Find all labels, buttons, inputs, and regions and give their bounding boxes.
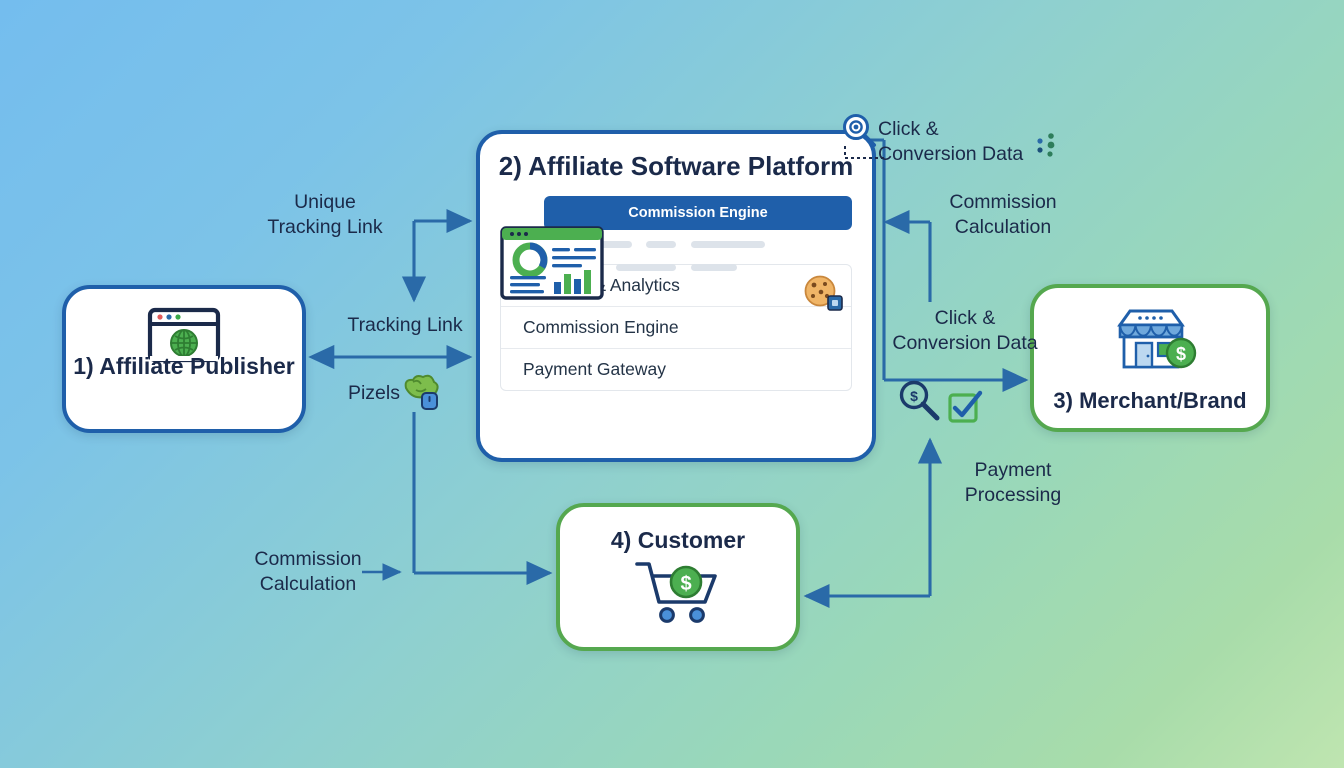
- label-commission-calculation-right: Commission Calculation: [928, 190, 1078, 239]
- label-click-conversion-data-mid: Click & Conversion Data: [886, 306, 1044, 355]
- node-title-customer: 4) Customer: [611, 527, 745, 554]
- svg-text:$: $: [680, 573, 691, 595]
- platform-row-payment-gateway[interactable]: Payment Gateway: [501, 348, 851, 390]
- scatter-dots-icon: [1032, 131, 1060, 159]
- node-title-platform: 2) Affiliate Software Platform: [499, 152, 853, 182]
- node-customer[interactable]: 4) Customer $: [556, 503, 800, 651]
- label-payment-processing: Payment Processing: [938, 458, 1088, 507]
- label-click-conversion-data-top: Click & Conversion Data: [878, 117, 1048, 166]
- diagram-canvas: 1) Affiliate Publisher 2) Affiliate Soft…: [0, 0, 1344, 768]
- checkbox-check-icon: [947, 389, 983, 425]
- node-title-publisher: 1) Affiliate Publisher: [73, 353, 295, 380]
- node-title-merchant: 3) Merchant/Brand: [1053, 388, 1246, 414]
- dashboard-icon: [500, 226, 604, 300]
- platform-row-commission-engine[interactable]: Commission Engine: [501, 306, 851, 348]
- shopping-cart-dollar-icon: $: [631, 558, 725, 629]
- label-commission-calculation-left: Commission Calculation: [228, 547, 388, 596]
- commission-engine-banner: Commission Engine: [544, 196, 852, 230]
- svg-text:$: $: [910, 388, 918, 404]
- search-dollar-icon: $: [896, 378, 942, 424]
- storefront-dollar-icon: $: [1098, 307, 1202, 378]
- label-tracking-link: Tracking Link: [330, 313, 480, 338]
- svg-text:$: $: [1176, 344, 1186, 364]
- node-affiliate-publisher[interactable]: 1) Affiliate Publisher: [62, 285, 306, 433]
- label-pizels: Pizels: [320, 381, 400, 406]
- label-unique-tracking-link: Unique Tracking Link: [236, 190, 414, 239]
- cookie-icon: [802, 274, 846, 314]
- pixel-tag-icon: [400, 374, 442, 412]
- node-merchant-brand[interactable]: $ 3) Merchant/Brand: [1030, 284, 1270, 432]
